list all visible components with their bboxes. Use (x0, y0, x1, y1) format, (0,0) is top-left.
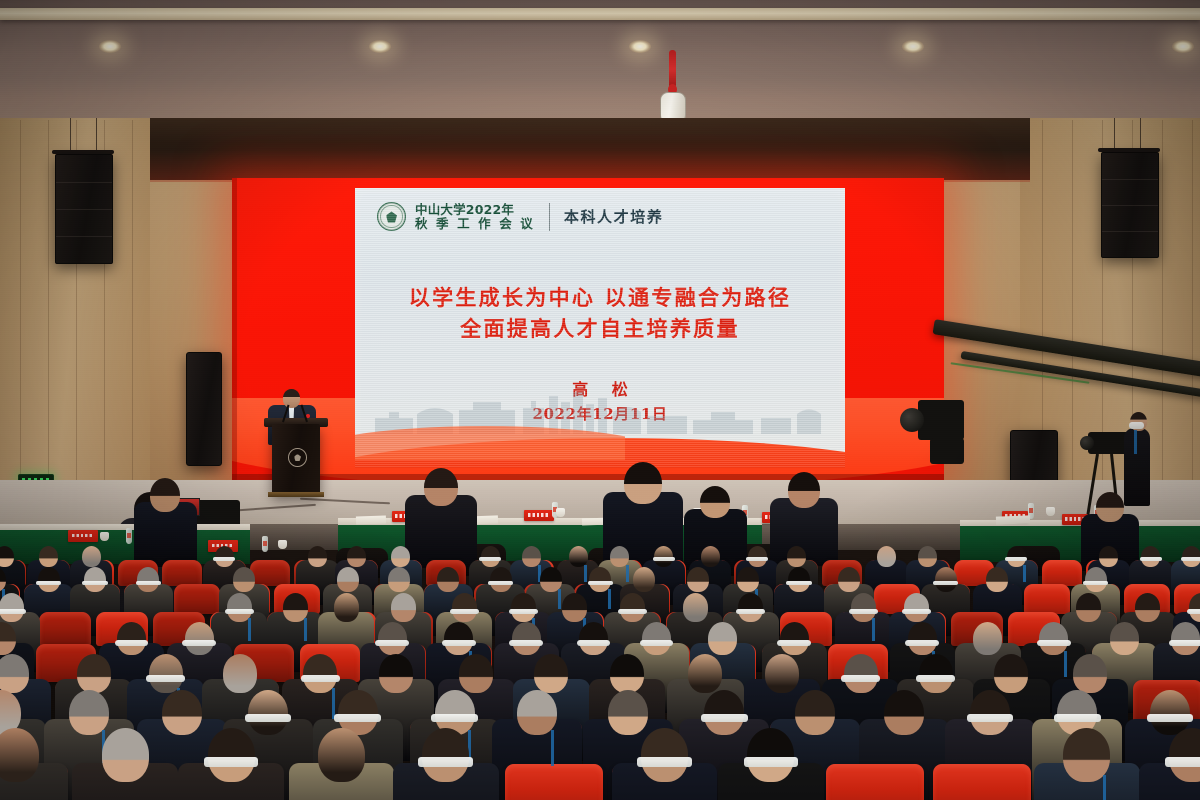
face-mask (0, 609, 26, 614)
auditorium-seat[interactable] (174, 584, 220, 614)
side-speaker-left (186, 352, 222, 466)
water-bottle-8 (126, 528, 132, 544)
hoist-strap (669, 50, 676, 88)
seated-attendee-head (1110, 622, 1139, 655)
seated-attendee-head (1150, 690, 1190, 736)
speaker-cable-right-a (1114, 118, 1115, 150)
seated-attendee-head (185, 622, 214, 655)
seated-attendee-head (641, 728, 688, 782)
seated-attendee-head (149, 654, 183, 693)
seated-attendee-head (701, 546, 720, 568)
university-seal-icon (377, 202, 406, 231)
seated-attendee-head (904, 593, 929, 622)
face-mask (841, 675, 880, 682)
face-mask (1181, 557, 1200, 561)
face-mask (146, 675, 185, 682)
delegate-name-card-2 (524, 510, 554, 521)
face-mask (967, 714, 1013, 722)
seated-attendee-head (137, 567, 159, 592)
wall-seam-0 (20, 120, 21, 520)
seated-attendee-head (918, 546, 937, 568)
auditorium-seat[interactable] (505, 764, 603, 800)
header-divider (549, 203, 550, 231)
face-mask (618, 609, 647, 614)
face-mask (136, 581, 162, 585)
face-mask (1005, 557, 1027, 561)
speaker-cable-right-b (1140, 118, 1141, 150)
face-mask (418, 757, 473, 766)
seated-attendee-head (459, 654, 493, 693)
seated-attendee-head (738, 593, 763, 622)
auditorium-seat[interactable] (933, 764, 1031, 800)
seated-attendee-head (620, 593, 645, 622)
tea-cup-3 (1046, 507, 1055, 516)
downlight-1 (99, 40, 121, 53)
face-mask (746, 557, 768, 561)
head-table-delegate-body-3 (405, 495, 476, 567)
camera-operator-lanyard (1134, 430, 1137, 454)
ceiling-trim-band (0, 8, 1200, 20)
seated-attendee-head (788, 567, 810, 592)
auditorium-photo: 中山大学2022年 秋 季 工 作 会 议 本科人才培养 以学生成长为中心 以通… (0, 0, 1200, 800)
face-mask (1165, 757, 1200, 766)
face-mask (509, 640, 543, 646)
seated-attendee-head (0, 593, 24, 622)
speaker-cell-divider (56, 209, 112, 210)
face-mask (213, 557, 235, 561)
seated-attendee-head (633, 567, 655, 592)
delegate-lanyard (584, 565, 587, 582)
face-mask (334, 714, 380, 722)
face-mask (902, 609, 931, 614)
delegate-lanyard (626, 565, 629, 582)
seated-attendee-head (452, 593, 477, 622)
delegate-lanyard (248, 618, 251, 641)
seated-attendee-head (1135, 593, 1160, 622)
face-mask (450, 609, 479, 614)
speaker-cable-left-a (70, 118, 71, 152)
seated-attendee-head (69, 690, 109, 736)
face-mask (375, 640, 409, 646)
tea-cup-4 (278, 540, 287, 549)
wall-seam-6 (1072, 120, 1073, 520)
face-mask (1169, 640, 1200, 646)
face-mask (933, 581, 959, 585)
seated-attendee-head (708, 622, 737, 655)
speaker-cell-divider (56, 236, 112, 237)
face-mask (225, 609, 254, 614)
face-mask (1187, 609, 1200, 614)
wall-seam-4 (132, 120, 133, 520)
face-mask (701, 714, 747, 722)
seated-attendee-head (490, 567, 512, 592)
seated-attendee-head (379, 654, 413, 693)
seated-attendee-head (1063, 728, 1110, 782)
speaker-cell-divider (1102, 205, 1158, 206)
conference-document-5 (996, 515, 1030, 524)
slide-title-line-1: 以学生成长为中心 以通专融合为路径 (355, 283, 845, 314)
seated-attendee-head (994, 654, 1028, 693)
seated-attendee-head (579, 622, 608, 655)
seated-attendee-head (0, 654, 29, 693)
slide-orange-ribbon (355, 426, 625, 460)
seated-attendee-head (391, 593, 416, 622)
face-mask (916, 675, 955, 682)
face-mask (204, 757, 259, 766)
seated-attendee-head (308, 546, 327, 568)
seated-attendee-head (84, 567, 106, 592)
seated-attendee-head (334, 593, 359, 622)
face-mask (82, 581, 108, 585)
seated-attendee-head (388, 567, 410, 592)
face-mask (640, 640, 674, 646)
face-mask (786, 581, 812, 585)
auditorium-seat[interactable] (1042, 560, 1082, 586)
face-mask (637, 757, 692, 766)
seated-attendee-head (378, 622, 407, 655)
head-table-delegate-head-5 (700, 486, 730, 518)
downlight-3 (629, 40, 651, 53)
seated-attendee-head (780, 622, 809, 655)
seated-attendee-head (0, 728, 39, 782)
seated-attendee-head (687, 567, 709, 592)
tea-cup-5 (100, 532, 109, 541)
delegate-lanyard (304, 618, 307, 641)
face-mask (1037, 640, 1071, 646)
seated-attendee-head (935, 567, 957, 592)
seated-attendee-head (512, 622, 541, 655)
face-mask (1140, 557, 1162, 561)
speaker-cell-divider (56, 182, 112, 183)
face-mask (36, 581, 62, 585)
auditorium-seat[interactable] (826, 764, 924, 800)
delegate-lanyard (551, 730, 554, 766)
seated-attendee-head (747, 728, 794, 782)
delegate-lanyard (1064, 651, 1067, 677)
tripod-camera-lens (1080, 436, 1094, 450)
seated-attendee-head (208, 728, 255, 782)
seated-attendee-head (970, 690, 1010, 736)
conference-document-1 (356, 515, 386, 524)
face-mask (577, 640, 611, 646)
auditorium-seat[interactable] (39, 612, 91, 646)
jib-camera-head (918, 400, 964, 440)
jib-camera-lens (900, 408, 924, 432)
speaker-cell-divider (1102, 231, 1158, 232)
seated-attendee-head (884, 690, 924, 736)
face-mask (849, 609, 878, 614)
face-mask (479, 557, 501, 561)
presenter-head (283, 389, 300, 408)
face-mask (588, 581, 614, 585)
seated-attendee-head (162, 690, 202, 736)
slide-main-title: 以学生成长为中心 以通专融合为路径 全面提高人才自主培养质量 (355, 283, 845, 345)
line-array-speaker-left (55, 154, 113, 264)
face-mask (431, 714, 477, 722)
seated-attendee-head (437, 567, 459, 592)
seated-attendee-head (787, 546, 806, 568)
seated-attendee-head (1099, 546, 1118, 568)
seated-attendee-head (318, 728, 365, 782)
water-bottle-7 (262, 536, 268, 552)
seated-attendee-head (1171, 622, 1200, 655)
seated-attendee-head (517, 690, 557, 736)
slide-header-conference-name: 中山大学2022年 秋 季 工 作 会 议 (415, 203, 535, 230)
delegate-lanyard (872, 618, 875, 641)
seated-attendee-head (1076, 593, 1101, 622)
head-table-delegate-head-6 (788, 472, 820, 508)
seated-attendee-head (642, 622, 671, 655)
auditorium-seat[interactable] (1024, 584, 1070, 614)
downlight-2 (369, 40, 391, 53)
seated-attendee-head (223, 654, 257, 693)
seated-attendee-head (973, 622, 1002, 655)
seated-attendee-head (704, 690, 744, 736)
face-mask (736, 609, 765, 614)
slide-title-line-2: 全面提高人才自主培养质量 (355, 314, 845, 345)
delegate-name-card-7 (68, 530, 98, 542)
seated-attendee-head (248, 690, 288, 736)
speaker-cable-left-b (96, 118, 97, 152)
face-mask (777, 640, 811, 646)
delegate-lanyard (608, 589, 611, 609)
auditorium-seat[interactable] (250, 560, 290, 586)
seated-attendee-head (919, 654, 953, 693)
seated-attendee-head (39, 546, 58, 568)
face-mask (245, 714, 291, 722)
jib-camera-body (930, 438, 964, 464)
tea-cup-1 (556, 508, 565, 517)
camera-operator-body (1124, 428, 1150, 506)
speaker-cell-divider (1102, 179, 1158, 180)
seated-attendee-head (1073, 654, 1107, 693)
head-table-delegate-head-7 (1096, 492, 1124, 522)
wall-seam-9 (1162, 120, 1163, 520)
seated-attendee-head (608, 690, 648, 736)
seated-attendee-head (765, 654, 799, 693)
seated-attendee-head (877, 546, 896, 568)
seated-attendee-head (38, 567, 60, 592)
head-table-delegate-head-3 (424, 468, 458, 506)
face-mask (301, 675, 340, 682)
seated-attendee-head (1085, 567, 1107, 592)
seated-attendee-head (233, 567, 255, 592)
seated-attendee-head (844, 654, 878, 693)
seated-attendee-head (347, 546, 366, 568)
delegate-lanyard (1023, 565, 1026, 582)
seated-attendee-head (77, 654, 111, 693)
head-table-delegate-head-4 (624, 462, 662, 504)
delegate-lanyard (558, 589, 561, 609)
face-mask (115, 640, 149, 646)
face-mask (744, 757, 799, 766)
head-table-delegate-head-1 (150, 478, 180, 512)
face-mask (1054, 714, 1100, 722)
line-array-speaker-right (1101, 152, 1159, 258)
face-mask (1083, 581, 1109, 585)
face-mask (509, 609, 538, 614)
wall-seam-1 (48, 120, 49, 520)
face-mask (653, 557, 675, 561)
seated-attendee-head (610, 654, 644, 693)
face-mask (442, 640, 476, 646)
delegate-lanyard (1103, 775, 1106, 800)
seated-attendee-head (391, 546, 410, 568)
wall-seam-10 (1192, 120, 1193, 520)
seated-attendee-head (986, 567, 1008, 592)
lectern-emblem-icon (288, 448, 307, 467)
face-mask (1147, 714, 1193, 722)
lectern-base (268, 492, 324, 497)
seated-attendee-head (102, 728, 149, 782)
seated-attendee-head (303, 654, 337, 693)
seated-attendee-head (337, 567, 359, 592)
slide-header-subject: 本科人才培养 (564, 206, 664, 227)
seated-attendee-head (0, 546, 14, 568)
seated-attendee-head (82, 546, 101, 568)
seated-attendee-head (683, 593, 708, 622)
presentation-slide: 中山大学2022年 秋 季 工 作 会 议 本科人才培养 以学生成长为中心 以通… (355, 188, 845, 468)
led-left-edge (232, 178, 237, 480)
slide-header: 中山大学2022年 秋 季 工 作 会 议 本科人才培养 (377, 202, 663, 231)
downlight-5 (1172, 40, 1194, 53)
seated-attendee-head (795, 690, 835, 736)
face-mask (488, 581, 514, 585)
head-table-delegate-body-1 (134, 502, 197, 567)
face-mask (905, 640, 939, 646)
seated-attendee-head (534, 654, 568, 693)
seated-attendee-head (838, 567, 860, 592)
header-line-2: 秋 季 工 作 会 议 (415, 216, 535, 231)
seated-attendee-head (688, 654, 722, 693)
seated-attendee-head (117, 622, 146, 655)
auditorium-seat[interactable] (162, 560, 202, 586)
downlight-4 (902, 40, 924, 53)
seated-attendee-head (422, 728, 469, 782)
camera-operator-mask (1129, 422, 1144, 429)
face-mask (182, 640, 216, 646)
